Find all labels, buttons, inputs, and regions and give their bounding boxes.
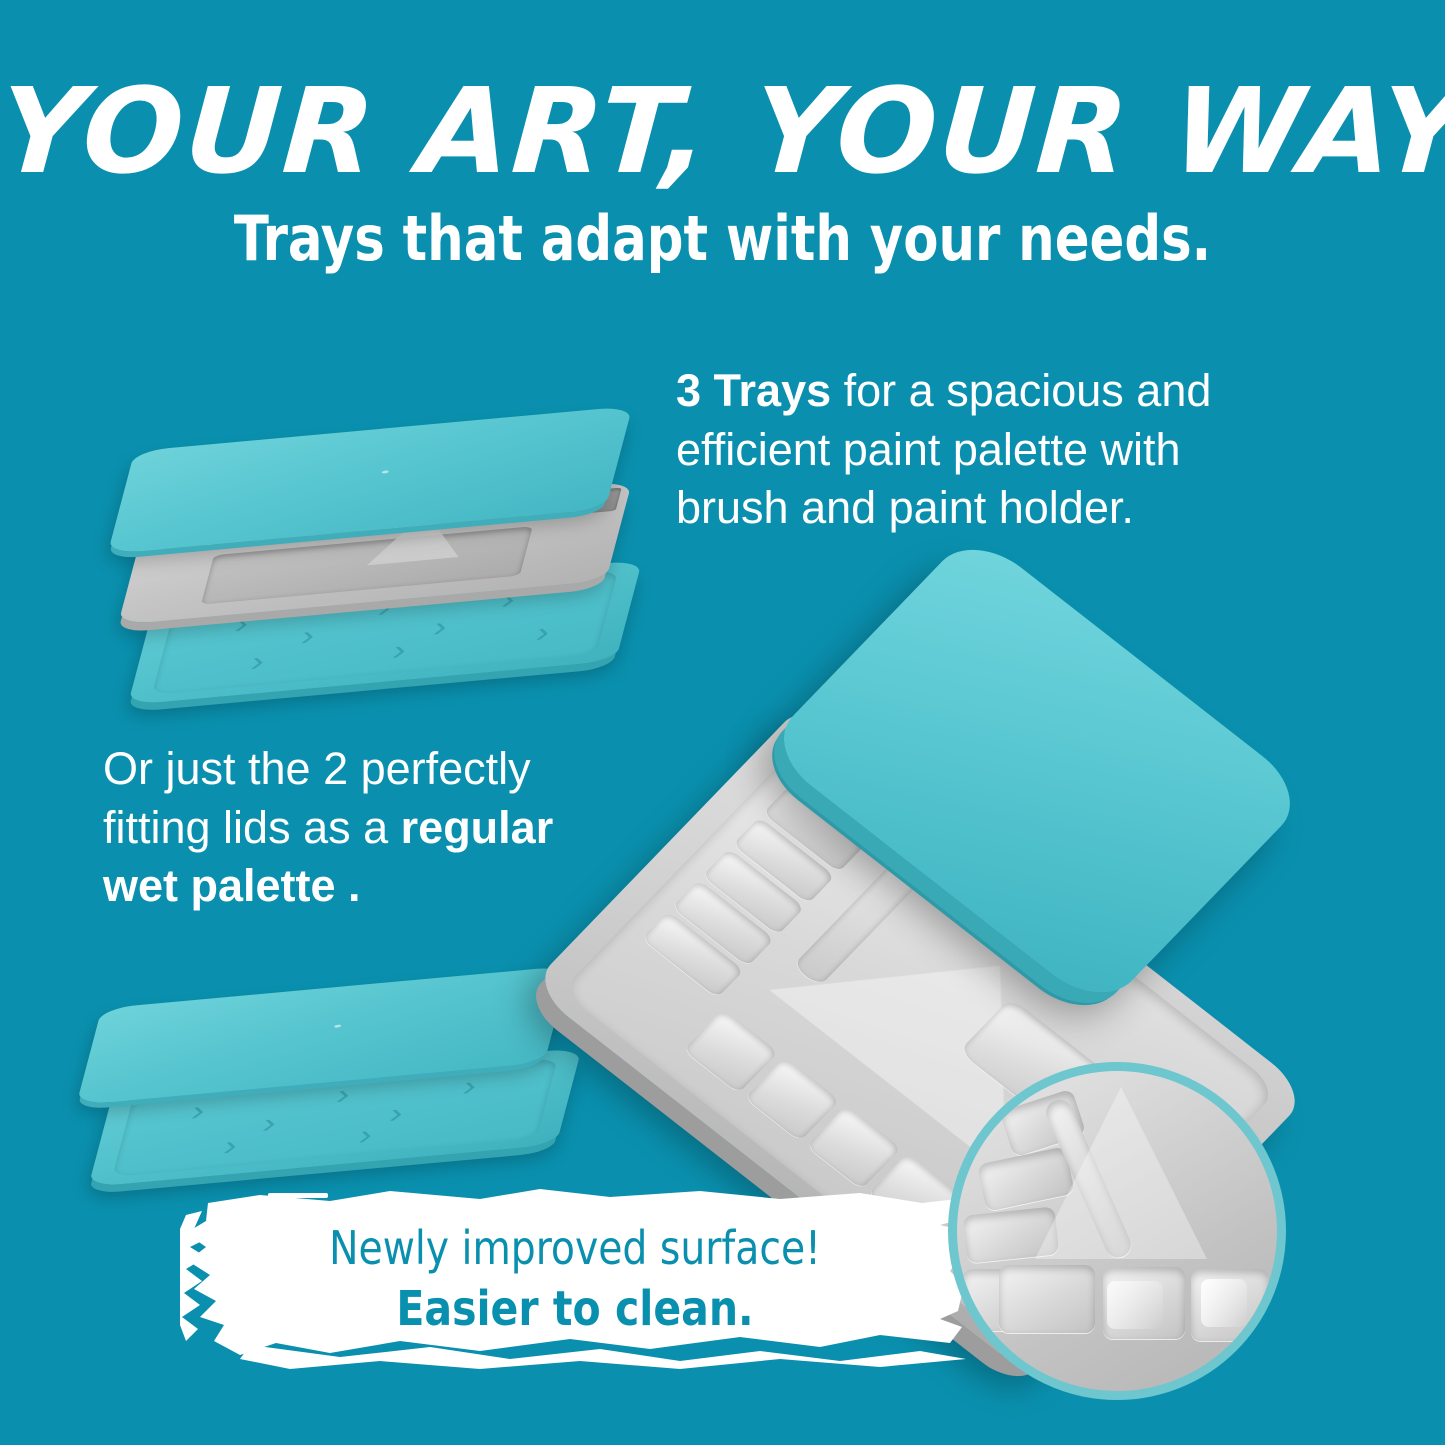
feature-text-two-lids: Or just the 2 perfectly fitting lids as … — [103, 740, 623, 916]
feature-text-three-trays: 3 Trays for a spacious and efficient pai… — [676, 362, 1256, 538]
bird-emboss-icon: ❭ — [331, 1089, 356, 1102]
bird-emboss-icon: ❭ — [229, 618, 254, 631]
banner-line-1: Newly improved surface! — [200, 1221, 951, 1275]
bird-emboss-icon: ❭ — [496, 594, 521, 607]
brushstroke-speck — [268, 1193, 328, 1198]
gloss-highlight — [1107, 1281, 1163, 1329]
bird-emboss-icon: ❭ — [353, 1129, 378, 1142]
feature-lead-bold: 3 Trays — [676, 365, 831, 416]
surface-closeup-inset — [948, 1062, 1286, 1400]
paint-well — [1191, 1269, 1269, 1341]
brushstroke-speck — [790, 1213, 838, 1218]
brushstroke-banner: Newly improved surface! Easier to clean. — [180, 1185, 970, 1370]
bird-emboss-icon: ❭ — [257, 1118, 282, 1131]
triangular-divider — [1035, 1087, 1207, 1259]
gloss-highlight — [1201, 1279, 1247, 1327]
bird-emboss-icon: ❭ — [372, 602, 397, 615]
product-marketing-poster: YOUR ART, YOUR WAY Trays that adapt with… — [0, 0, 1445, 1445]
bird-emboss-icon: ❭ — [245, 656, 270, 669]
bird-emboss-icon: ❭ — [296, 630, 321, 643]
bird-emboss-icon: ❭ — [428, 621, 453, 634]
bird-emboss-icon: ❭ — [387, 645, 412, 658]
lid-dimple — [334, 1024, 342, 1028]
bird-emboss-icon: ❭ — [457, 1081, 482, 1094]
bird-emboss-icon: ❭ — [186, 1105, 211, 1118]
page-title: YOUR ART, YOUR WAY — [0, 72, 1445, 190]
large-palette-with-lid — [570, 540, 1445, 1130]
bird-emboss-icon: ❭ — [218, 1140, 243, 1153]
page-subtitle: Trays that adapt with your needs. — [58, 206, 1387, 271]
bird-emboss-icon: ❭ — [384, 1108, 409, 1121]
bird-emboss-icon: ❭ — [530, 627, 555, 640]
paint-well — [999, 1265, 1095, 1333]
banner-line-2: Easier to clean. — [200, 1281, 951, 1337]
lid-dimple — [381, 470, 389, 474]
